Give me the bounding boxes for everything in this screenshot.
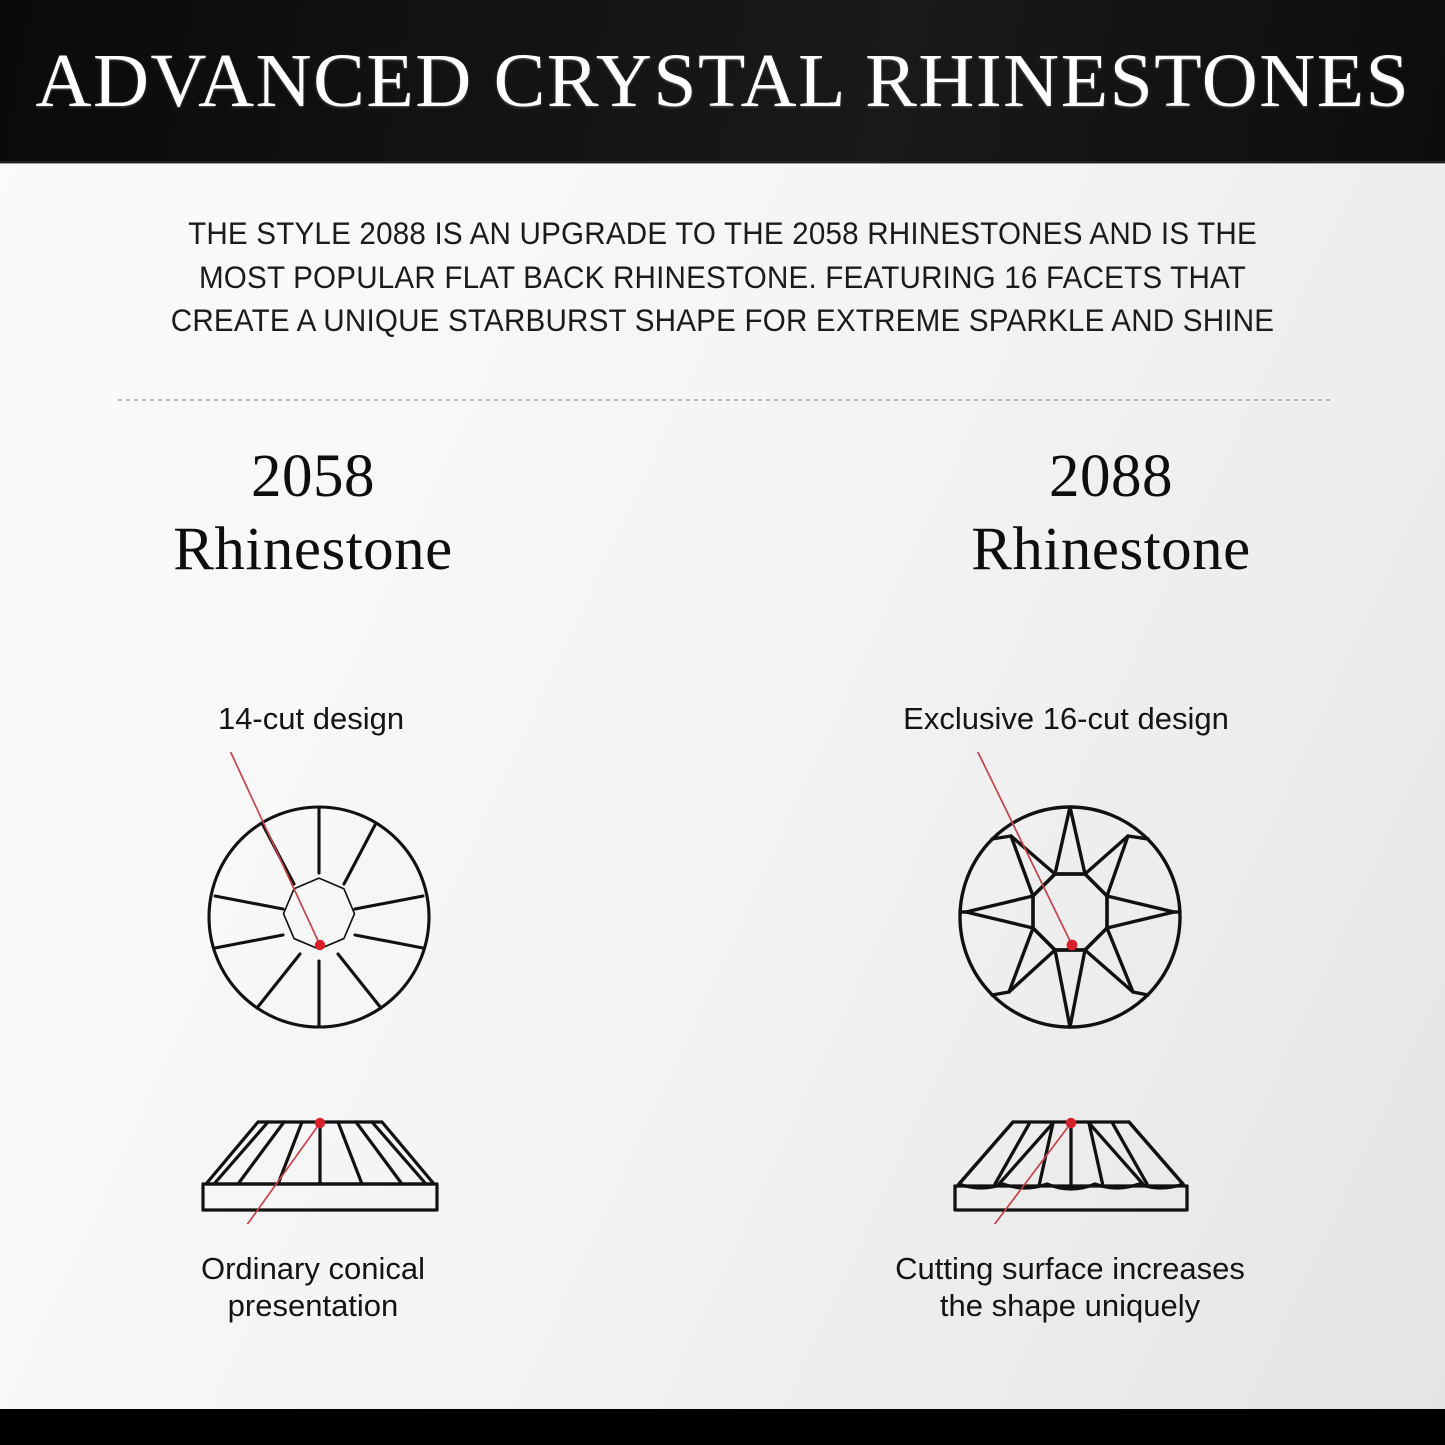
column-2088-caption-line-1: Cutting surface increases — [895, 1250, 1245, 1287]
column-2058-caption-line-2: presentation — [201, 1287, 425, 1324]
facet-lines — [959, 1122, 1183, 1187]
column-2088-title-word: Rhinestone — [971, 513, 1250, 586]
footer-bar — [0, 1409, 1445, 1445]
header-underline-divider — [0, 161, 1445, 164]
intro-line-3: CREATE A UNIQUE STARBURST SHAPE FOR EXTR… — [142, 299, 1303, 343]
2058-side-view-diagram — [170, 1094, 470, 1224]
column-2088-cut-label: Exclusive 16-cut design — [903, 702, 1229, 736]
intro-line-1: THE STYLE 2088 IS AN UPGRADE TO THE 2058… — [142, 212, 1303, 256]
column-2058: 2058 Rhinestone 14-cut design — [0, 440, 722, 1324]
column-2058-cut-label: 14-cut design — [218, 702, 404, 736]
2088-top-view-diagram — [920, 752, 1220, 1032]
column-2088-title-number: 2088 — [971, 440, 1250, 513]
column-2088-title: 2088 Rhinestone — [971, 440, 1250, 586]
intro-line-2: MOST POPULAR FLAT BACK RHINESTONE. FEATU… — [142, 256, 1303, 300]
facet-lines — [214, 1122, 426, 1184]
infographic-root: ADVANCED CRYSTAL RHINESTONES THE STYLE 2… — [0, 0, 1445, 1445]
column-2058-title: 2058 Rhinestone — [173, 440, 452, 586]
page-title: ADVANCED CRYSTAL RHINESTONES — [35, 43, 1410, 119]
column-2058-title-number: 2058 — [173, 440, 452, 513]
column-2088-caption: Cutting surface increases the shape uniq… — [895, 1250, 1245, 1324]
comparison-columns: 2058 Rhinestone 14-cut design — [0, 440, 1445, 1324]
column-2058-caption-line-1: Ordinary conical — [201, 1250, 425, 1287]
2058-top-view-diagram — [169, 752, 469, 1032]
pointer-dot — [1066, 1118, 1076, 1128]
intro-paragraph: THE STYLE 2088 IS AN UPGRADE TO THE 2058… — [142, 212, 1303, 343]
pointer-dot — [315, 940, 325, 950]
facet-lines — [215, 807, 423, 1027]
column-2088-caption-line-2: the shape uniquely — [895, 1287, 1245, 1324]
pointer-dot — [1067, 940, 1078, 951]
base-slab — [203, 1184, 437, 1210]
pointer-line — [226, 752, 320, 945]
pointer-dot — [315, 1118, 325, 1128]
header-banner: ADVANCED CRYSTAL RHINESTONES — [0, 0, 1445, 161]
2088-side-view-diagram — [921, 1094, 1221, 1224]
column-2058-title-word: Rhinestone — [173, 513, 452, 586]
column-2088: 2088 Rhinestone Exclusive 16-cut design — [722, 440, 1444, 1324]
column-2058-caption: Ordinary conical presentation — [201, 1250, 425, 1324]
dashed-divider — [118, 399, 1330, 401]
